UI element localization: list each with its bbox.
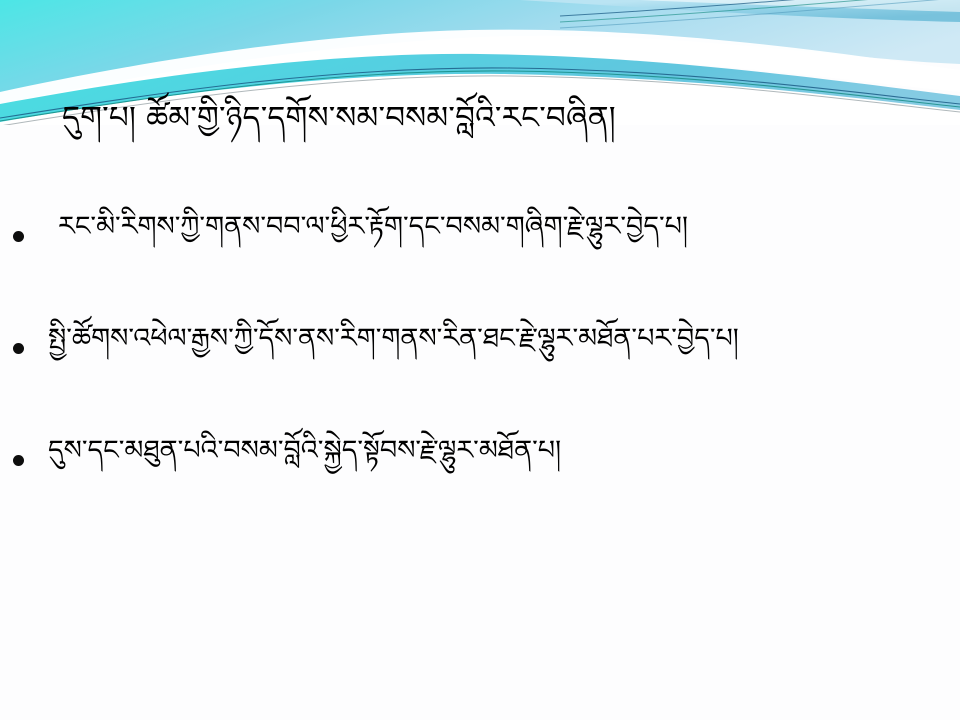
list-item: དུས་དང་མཐུན་པའི་བསམ་བློའི་སྐྱེད་སྟོབས་རྗ… <box>0 429 960 493</box>
bullet-marker-icon <box>0 317 48 358</box>
bullet-marker-icon <box>0 429 48 470</box>
presentation-slide: དུག་པ། ཚོམ་གྱི་ཉིད་དགོས་སམ་བསམ་བློའི་རང་… <box>0 0 960 720</box>
bullet-marker-icon <box>0 205 48 246</box>
slide-body: རང་མི་རིགས་ཀྱི་གནས་བབ་ལ་ཕྱིར་རྟོག་དང་བསམ… <box>0 205 960 541</box>
list-item: སྤྱི་ཚོགས་འཕེལ་རྒྱས་ཀྱི་དོས་ནས་རིག་གནས་ར… <box>0 317 960 381</box>
slide-title: དུག་པ། ཚོམ་གྱི་ཉིད་དགོས་སམ་བསམ་བློའི་རང་… <box>62 98 892 140</box>
page-title: དུག་པ། ཚོམ་གྱི་ཉིད་དགོས་སམ་བསམ་བློའི་རང་… <box>62 98 892 140</box>
list-item: རང་མི་རིགས་ཀྱི་གནས་བབ་ལ་ཕྱིར་རྟོག་དང་བསམ… <box>0 205 960 269</box>
list-item-label: དུས་དང་མཐུན་པའི་བསམ་བློའི་སྐྱེད་སྟོབས་རྗ… <box>48 429 960 470</box>
list-item-label: རང་མི་རིགས་ཀྱི་གནས་བབ་ལ་ཕྱིར་རྟོག་དང་བསམ… <box>48 205 960 246</box>
list-item-label: སྤྱི་ཚོགས་འཕེལ་རྒྱས་ཀྱི་དོས་ནས་རིག་གནས་ར… <box>48 317 960 358</box>
